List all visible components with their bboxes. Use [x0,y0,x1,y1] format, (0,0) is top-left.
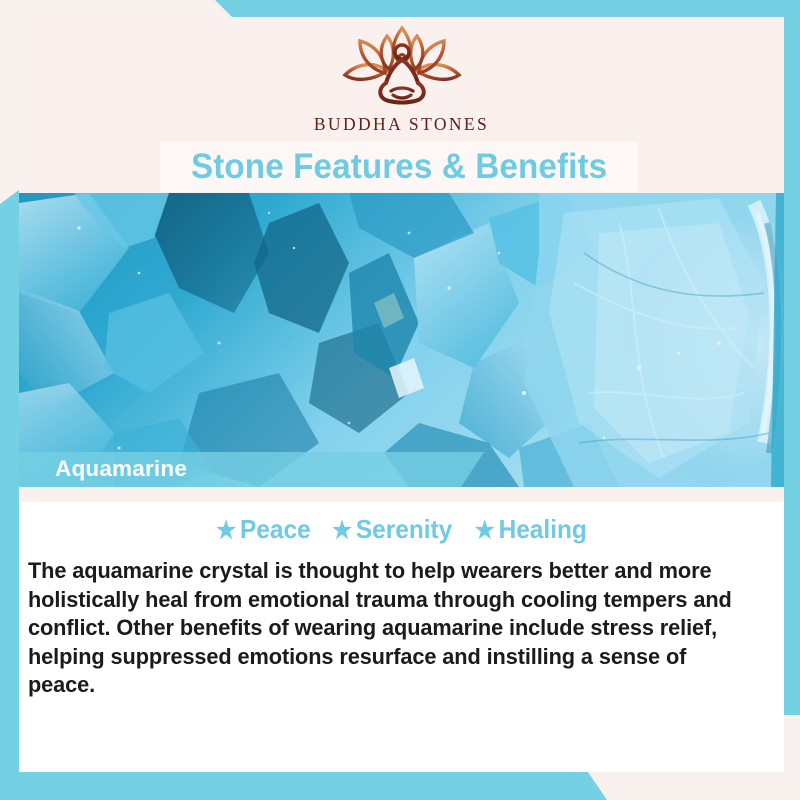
stone-photo [19,193,784,487]
crystal-photo-artwork [19,193,784,487]
lotus-meditation-figure-icon [327,23,477,111]
benefit-item: ★Serenity [332,514,452,545]
top-accent-strip [0,0,800,17]
content-panel: ★Peace ★Serenity ★Healing The aquamarine… [19,502,784,772]
benefit-label: Serenity [356,514,452,544]
page-title: Stone Features & Benefits [191,147,607,187]
benefits-row: ★Peace ★Serenity ★Healing [19,514,784,545]
stone-description: The aquamarine crystal is thought to hel… [28,557,759,700]
bottom-accent-strip [0,772,800,800]
right-accent-strip [784,15,800,715]
benefit-item: ★Peace [216,514,311,545]
brand-name: BUDDHA STONES [19,114,784,135]
stone-features-infographic: BUDDHA STONES Stone Features & Benefits [0,0,800,800]
star-icon: ★ [216,517,236,544]
title-band: Stone Features & Benefits [160,142,638,192]
content-divider [19,487,784,502]
benefit-label: Peace [240,514,311,544]
stone-name: Aquamarine [55,456,187,482]
brand-logo: BUDDHA STONES [19,23,784,135]
star-icon: ★ [332,517,352,544]
benefit-label: Healing [498,514,586,544]
left-accent-strip [0,190,19,800]
benefit-item: ★Healing [474,514,586,545]
star-icon: ★ [474,517,494,544]
